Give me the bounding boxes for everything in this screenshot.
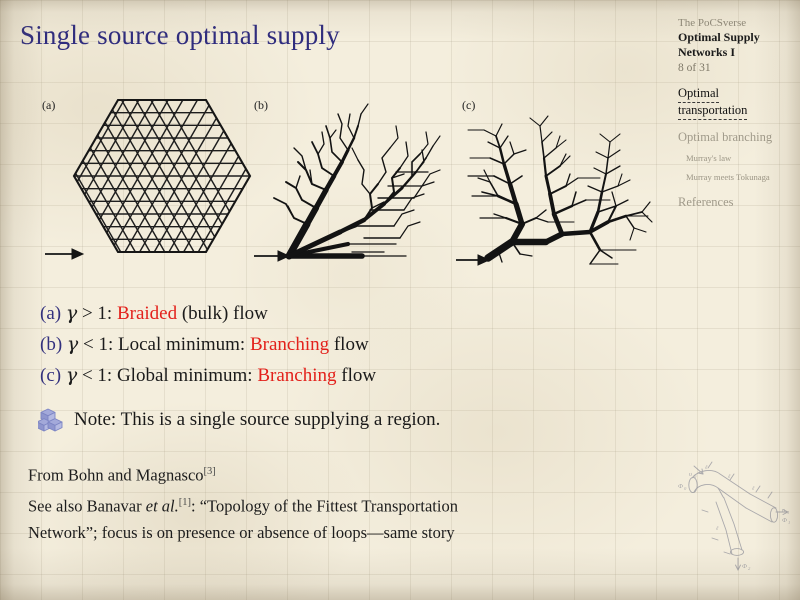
sidebar-item-optimal-transportation-line2: transportation	[678, 103, 747, 120]
bullet-post-b: flow	[334, 334, 369, 355]
footer-citation-3[interactable]: [3]	[204, 466, 216, 477]
bullet-list: (a) γ > 1: Braided (bulk) flow (b) γ < 1…	[40, 298, 640, 391]
sidebar-brand: The PoCSverse	[678, 16, 796, 30]
sidebar-item-optimal-branching[interactable]: Optimal branching	[678, 130, 796, 145]
svg-text:ℓ: ℓ	[716, 526, 719, 532]
list-item: (c) γ < 1: Global minimum: Branching flo…	[40, 360, 640, 391]
svg-text:ℓ: ℓ	[752, 486, 755, 492]
svg-text:1: 1	[787, 510, 789, 515]
figure-panel-b: (b)	[244, 92, 454, 284]
bullet-relation-b: < 1:	[83, 334, 113, 355]
page-title: Single source optimal supply	[20, 20, 340, 51]
list-item: (a) γ > 1: Braided (bulk) flow	[40, 298, 640, 329]
svg-text:2: 2	[748, 566, 751, 571]
bullet-relation-a: > 1:	[82, 303, 112, 324]
svg-text:Φ: Φ	[678, 483, 683, 490]
sidebar-item-references[interactable]: References	[678, 195, 796, 210]
sidebar-course-title-line1: Optimal Supply	[678, 30, 796, 45]
bullet-highlight-b: Branching	[250, 334, 329, 355]
figure-panel-c: (c)	[450, 92, 662, 284]
bifurcating-tube-sketch: Φ 0 υ 0 ℓ ℓ ℓ υ 1 Φ 1 ℓ Φ 2	[672, 452, 796, 580]
slide-canvas: Single source optimal supply The PoCSver…	[0, 0, 800, 600]
bullet-gamma-a: γ	[66, 302, 77, 324]
bullet-tag-c: (c)	[40, 365, 61, 386]
svg-text:1: 1	[788, 520, 790, 525]
bullet-gamma-b: γ	[67, 333, 78, 355]
local-minimum-tree-diagram	[244, 92, 454, 284]
bullet-tag-a: (a)	[40, 303, 61, 324]
list-item: (b) γ < 1: Local minimum: Branching flow	[40, 329, 640, 360]
bullet-highlight-a: Braided	[117, 303, 177, 324]
inflow-arrow-b	[254, 251, 289, 261]
figure-row: (a)	[36, 92, 662, 284]
svg-text:Φ: Φ	[742, 563, 747, 570]
footer-line-1: From Bohn and Magnasco[3]	[28, 458, 638, 489]
sidebar-subitem-murrays-law[interactable]: Murray's law	[686, 152, 796, 164]
bullet-post-a: (bulk) flow	[182, 303, 268, 324]
sidebar-item-optimal-branching-label: Optimal branching	[678, 130, 772, 144]
bullet-pre-b: Local minimum:	[118, 334, 245, 355]
footer-line-2: See also Banavar et al.[1]: “Topology of…	[28, 489, 638, 520]
footer-line-2-post: : “Topology of the Fittest Transportatio…	[191, 496, 458, 515]
sidebar-item-optimal-transportation[interactable]: Optimal transportation	[678, 86, 796, 120]
bullet-post-c: flow	[341, 365, 376, 386]
svg-text:υ: υ	[689, 471, 692, 478]
footer-attribution: From Bohn and Magnasco[3] See also Banav…	[28, 458, 638, 546]
sidebar-item-optimal-transportation-line1: Optimal	[678, 86, 719, 103]
note-text: Note: This is a single source supplying …	[74, 409, 440, 431]
global-minimum-tree-diagram	[450, 92, 662, 284]
footer-line-3: Network”; focus is on presence or absenc…	[28, 519, 638, 546]
hexagonal-lattice-diagram	[36, 92, 258, 284]
inflow-arrow-a	[45, 249, 83, 259]
cubes-icon	[38, 408, 64, 432]
bullet-pre-c: Global minimum:	[117, 365, 253, 386]
svg-text:Φ: Φ	[782, 517, 787, 524]
figure-panel-b-label: (b)	[254, 98, 268, 113]
svg-text:υ: υ	[782, 507, 785, 514]
footer-line-2-etal: et al.	[146, 496, 179, 515]
svg-text:0: 0	[694, 474, 697, 479]
bullet-tag-b: (b)	[40, 334, 62, 355]
inflow-arrow-c	[456, 255, 489, 265]
figure-panel-a: (a)	[36, 92, 258, 284]
figure-panel-a-label: (a)	[42, 98, 55, 113]
footer-line-1-text: From Bohn and Magnasco	[28, 466, 204, 485]
sidebar-page-counter: 8 of 31	[678, 60, 796, 76]
footer-citation-1[interactable]: [1]	[179, 497, 191, 508]
sidebar-subitem-murray-meets-tokunaga[interactable]: Murray meets Tokunaga	[686, 171, 796, 183]
bullet-relation-c: < 1:	[82, 365, 112, 386]
footer-line-2-pre: See also Banavar	[28, 496, 146, 515]
bullet-gamma-c: γ	[66, 364, 77, 386]
bullet-highlight-c: Branching	[257, 365, 336, 386]
figure-panel-c-label: (c)	[462, 98, 475, 113]
note-row: Note: This is a single source supplying …	[38, 408, 440, 432]
sidebar-course-title-line2: Networks I	[678, 45, 796, 60]
svg-text:0: 0	[684, 486, 687, 491]
sidebar-nav: The PoCSverse Optimal Supply Networks I …	[678, 16, 796, 210]
